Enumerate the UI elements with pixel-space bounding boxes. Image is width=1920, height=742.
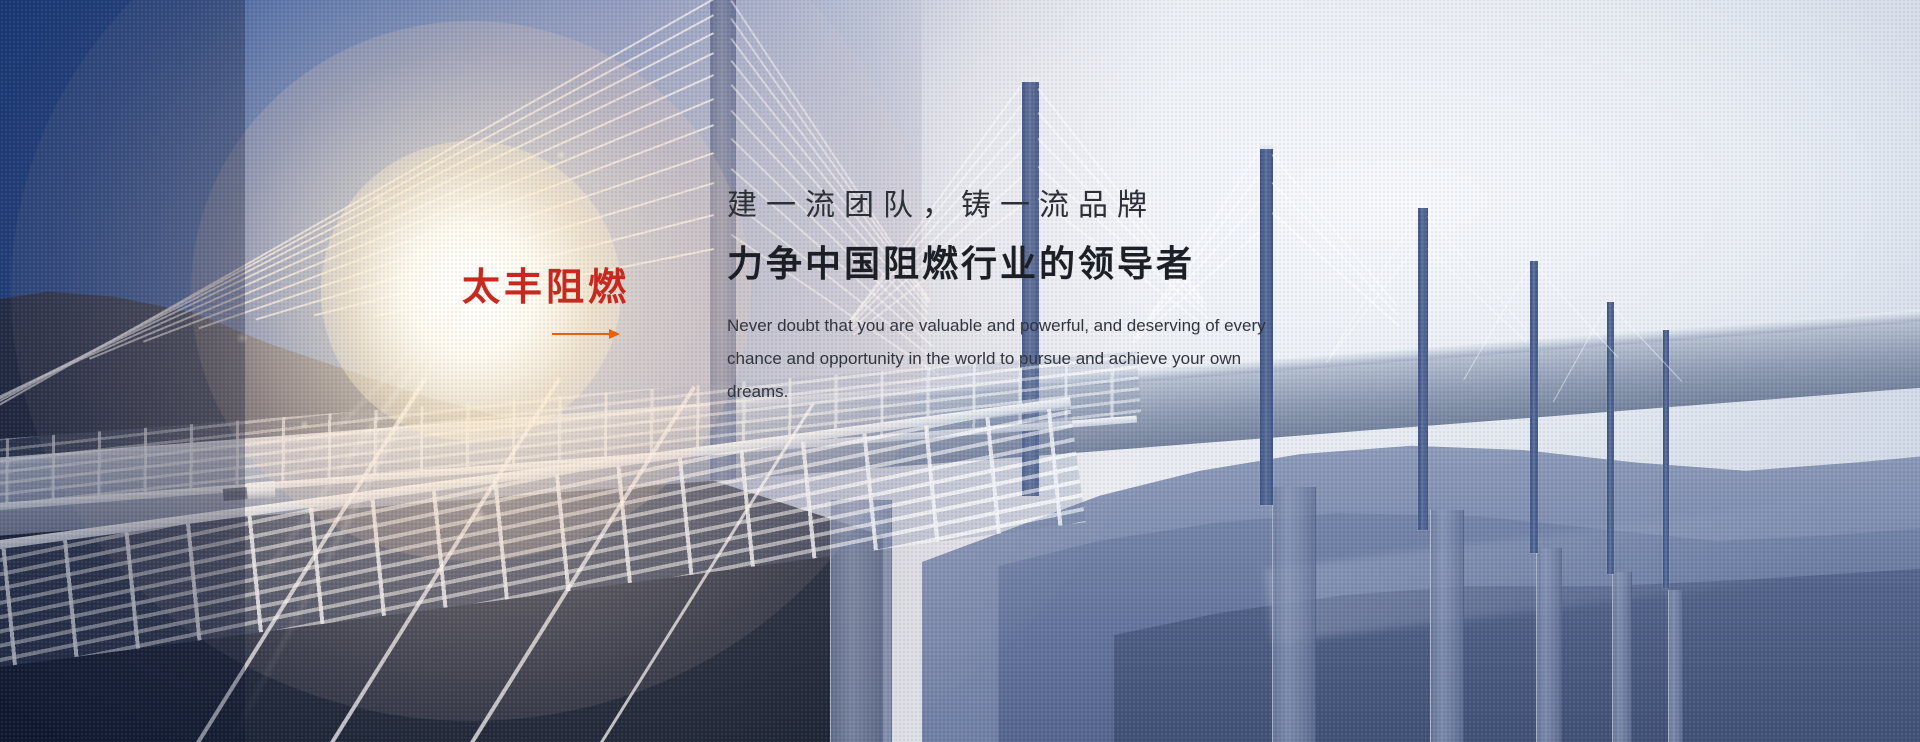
vehicle-truck bbox=[246, 481, 275, 499]
stay-cable bbox=[1427, 216, 1526, 330]
bridge-pylon-5 bbox=[1530, 261, 1538, 553]
bridge-pier bbox=[1668, 590, 1683, 742]
bridge-pylon-6 bbox=[1607, 302, 1614, 574]
bridge-pier bbox=[1536, 548, 1562, 742]
left-overlay-panel bbox=[0, 0, 245, 742]
brand-logo-text: 太丰阻燃 bbox=[462, 268, 642, 306]
hero-copy: 建一流团队，铸一流品牌 力争中国阻燃行业的领导者 Never doubt tha… bbox=[727, 188, 1347, 408]
bridge-pier bbox=[1272, 487, 1316, 742]
bridge-pylon-4 bbox=[1418, 208, 1428, 530]
pylon-cap bbox=[1260, 145, 1273, 149]
brand-logo[interactable]: 太丰阻燃 bbox=[462, 268, 642, 338]
headline-secondary: 力争中国阻燃行业的领导者 bbox=[727, 242, 1347, 287]
headline-primary: 建一流团队，铸一流品牌 bbox=[727, 188, 1347, 224]
pylon-cap bbox=[1022, 78, 1039, 82]
arrow-right-icon bbox=[552, 328, 620, 338]
hero-banner: 太丰阻燃 建一流团队，铸一流品牌 力争中国阻燃行业的领导者 Never doub… bbox=[0, 0, 1920, 742]
bridge-pier bbox=[1430, 510, 1464, 742]
hero-subtext: Never doubt that you are valuable and po… bbox=[727, 309, 1297, 408]
bridge-pier bbox=[1612, 572, 1632, 742]
